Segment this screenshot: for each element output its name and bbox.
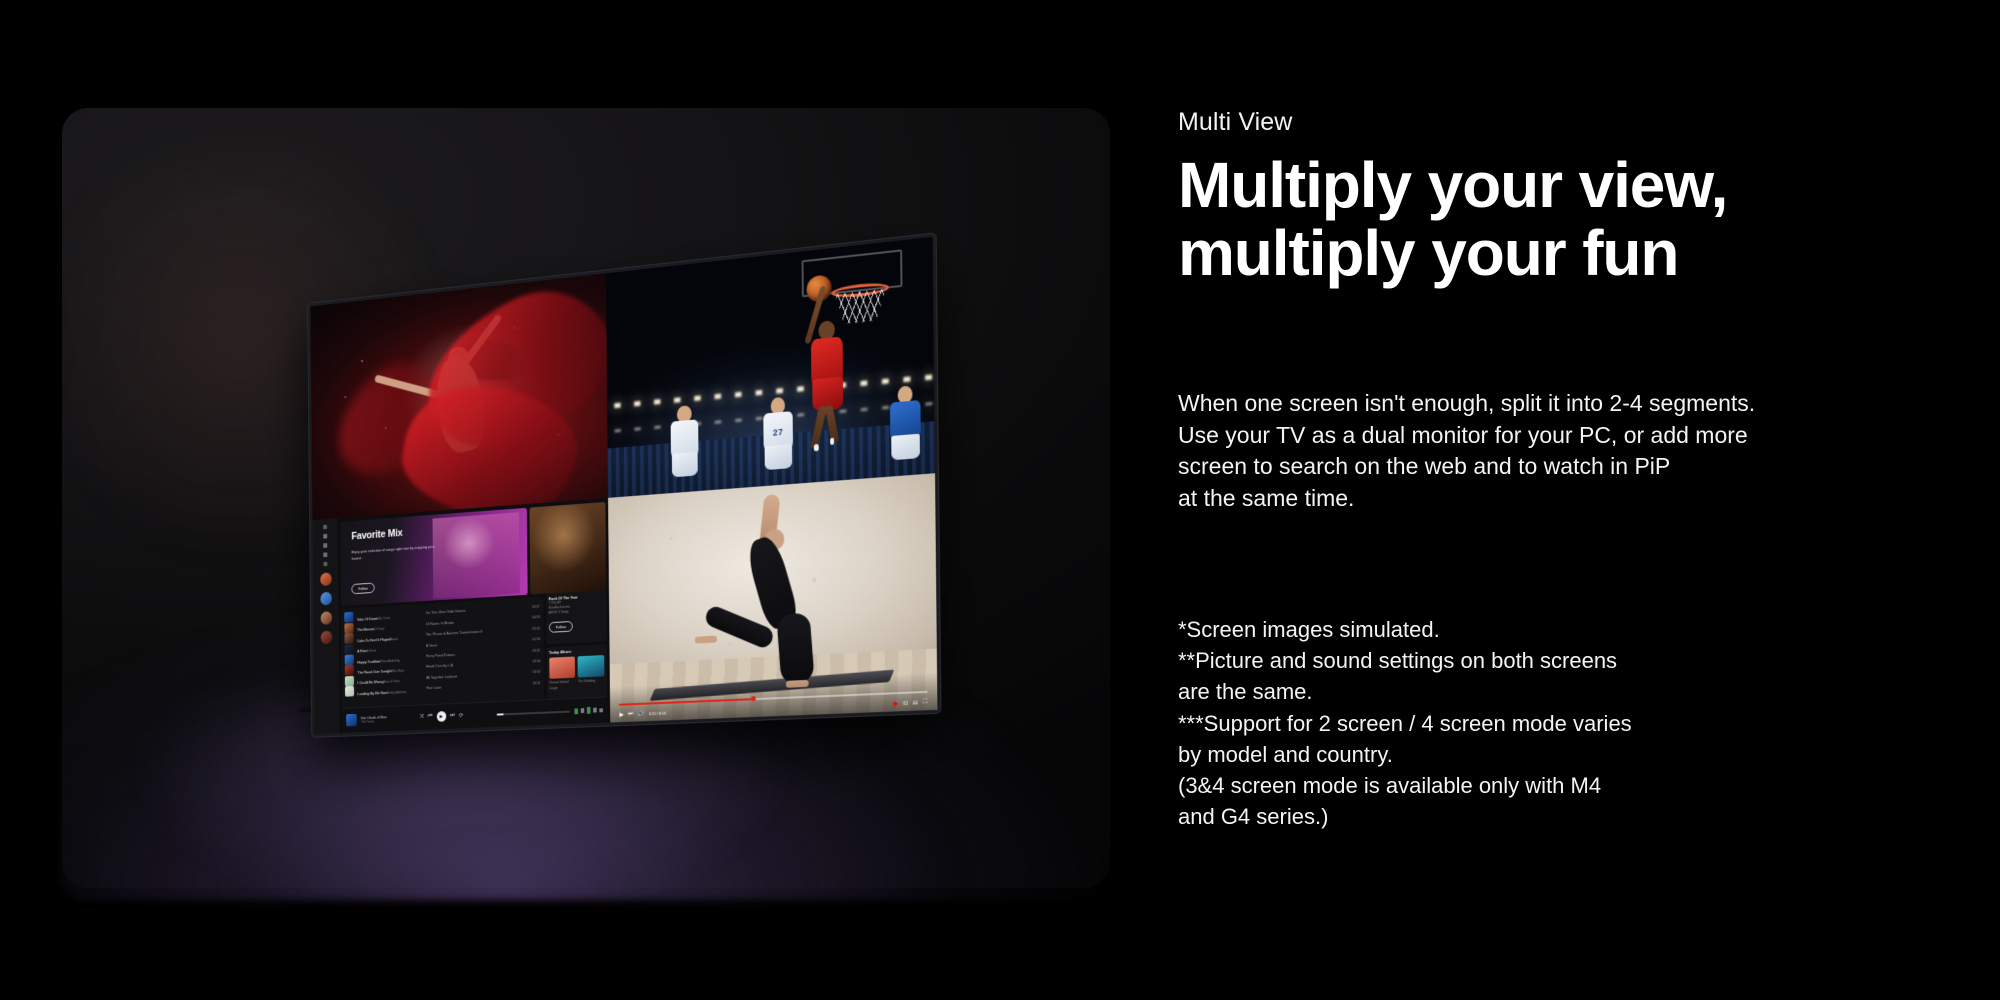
player-red-jersey: [802, 297, 853, 427]
now-playing-art: [346, 714, 357, 727]
today-album-title: Today Album: [549, 648, 604, 656]
page-title: Multiply your view, multiply your fun: [1178, 152, 1727, 288]
follow-button[interactable]: Follow: [352, 583, 375, 595]
hero-subtitle: Enjoy your selection of songs right now …: [351, 543, 443, 562]
footnote-line: **Picture and sound settings on both scr…: [1178, 645, 1632, 676]
quadrant-music-app[interactable]: Favorite Mix Enjoy your selection of son…: [312, 498, 610, 734]
track-album: First Lane: [426, 681, 529, 690]
track-duration: 03:31: [532, 648, 540, 652]
video-progress-handle[interactable]: [751, 696, 756, 701]
queue-icon[interactable]: [587, 707, 591, 714]
music-main: Favorite Mix Enjoy your selection of son…: [338, 498, 610, 733]
now-playing-artist: The Preset: [361, 719, 387, 724]
quadrant-basketball-game[interactable]: 27: [606, 237, 935, 498]
track-list[interactable]: Take Of DawnElla Crest On The Other Side…: [341, 597, 544, 708]
volume-icon[interactable]: [599, 708, 603, 712]
body-line-3: screen to search on the web and to watch…: [1178, 453, 1670, 479]
music-right-column: Rock Of The Year 7,754,089 Reid Backstor…: [546, 590, 607, 699]
avatar-2[interactable]: [320, 592, 332, 606]
album-art-guitarist[interactable]: [530, 502, 607, 595]
shuffle-icon[interactable]: ⤨: [420, 714, 424, 721]
footnote-line: are the same.: [1178, 676, 1632, 707]
fullscreen-icon[interactable]: ⛶: [923, 699, 927, 706]
track-thumb: [345, 686, 354, 697]
today-album-label-1: Festival Gold of Jungle: [549, 680, 575, 691]
track-duration: 03:07: [532, 604, 540, 608]
tv-device: 27: [308, 233, 940, 737]
avatar-1[interactable]: [320, 572, 332, 586]
device-icon[interactable]: [593, 708, 597, 713]
headline-line-2: multiply your fun: [1178, 217, 1678, 289]
volume-icon[interactable]: 🔊: [637, 710, 644, 717]
track-duration: 04:18: [532, 615, 540, 619]
today-album-label-2: The Unfading: [578, 679, 604, 690]
captions-icon[interactable]: ⊡: [903, 699, 908, 706]
today-album-art-2[interactable]: [578, 655, 605, 678]
avatar-3[interactable]: [320, 611, 332, 625]
music-progress-bar[interactable]: [497, 710, 570, 715]
track-title: Landing By Me Now: [358, 690, 388, 696]
feature-eyebrow: Multi View: [1178, 108, 1292, 137]
video-right-controls[interactable]: ▶ ⊡ ⊟ ⛶: [894, 699, 927, 707]
mic-icon[interactable]: [581, 708, 585, 713]
track-duration: 03:11: [533, 681, 541, 685]
home-icon[interactable]: [323, 525, 327, 530]
headline-line-1: Multiply your view,: [1178, 149, 1727, 221]
music-nav-rail[interactable]: [312, 518, 339, 734]
next-icon[interactable]: ⏭: [628, 711, 633, 718]
footnote-line: and G4 series.): [1178, 801, 1632, 832]
video-progress-fill: [619, 698, 751, 705]
avatar-4[interactable]: [320, 631, 332, 645]
yogi-leg-front: [776, 612, 814, 685]
product-visual: 27: [0, 0, 1150, 1000]
footnote-line: by model and country.: [1178, 739, 1632, 770]
music-equalizer-icons[interactable]: [574, 707, 603, 715]
jersey-number: 27: [764, 426, 793, 438]
marketing-copy: Multi View Multiply your view, multiply …: [1178, 0, 2000, 1000]
feature-description: When one screen isn't enough, split it i…: [1178, 388, 1755, 514]
music-progress-fill: [497, 713, 504, 715]
today-album-card[interactable]: Today Album Festival Gold of Jungle The …: [546, 645, 607, 699]
repeat-icon[interactable]: ⟳: [459, 712, 463, 719]
track-thumb: [345, 644, 354, 655]
track-thumb: [344, 612, 353, 623]
yt-logo-icon[interactable]: ▶: [894, 700, 899, 707]
player-blue-right: [883, 375, 928, 473]
next-icon[interactable]: ⏭: [450, 713, 455, 720]
footnote-line: ***Support for 2 screen / 4 screen mode …: [1178, 708, 1632, 739]
player-white-left-shorts: [671, 452, 698, 478]
player-blue-right-shorts: [891, 434, 920, 461]
track-thumb: [345, 633, 354, 644]
playlist-icon[interactable]: [323, 552, 327, 557]
track-thumb: [345, 623, 354, 634]
track-thumb: [345, 665, 354, 676]
player-white-center: 27: [757, 386, 801, 482]
player-white-center-shorts: [765, 444, 793, 470]
track-duration: 03:42: [532, 626, 540, 630]
player-white-left: [664, 395, 706, 489]
singer-photo: [432, 512, 520, 599]
quadrant-dance-performance[interactable]: [310, 273, 608, 520]
today-album-art-1[interactable]: [549, 657, 575, 679]
music-top-area: Favorite Mix Enjoy your selection of son…: [340, 502, 606, 606]
play-icon[interactable]: ▶: [437, 711, 446, 722]
now-playing-title: Into Clouds of MarsThe Preset: [361, 715, 387, 724]
equalizer-icon[interactable]: [574, 708, 578, 714]
footnotes: *Screen images simulated. **Picture and …: [1178, 614, 1632, 833]
card-follow-button[interactable]: Follow: [549, 621, 573, 633]
footnote-line: (3&4 screen mode is available only with …: [1178, 770, 1632, 801]
body-line-1: When one screen isn't enough, split it i…: [1178, 390, 1755, 416]
miniplayer-icon[interactable]: ⊟: [913, 699, 918, 706]
track-duration: 02:56: [532, 637, 540, 641]
play-icon[interactable]: ▶: [619, 711, 623, 718]
music-transport-controls[interactable]: ⤨ ⏮ ▶ ⏭ ⟳: [419, 711, 463, 723]
more-icon[interactable]: [323, 562, 327, 567]
body-line-4: at the same time.: [1178, 485, 1354, 511]
footnote-line: *Screen images simulated.: [1178, 614, 1632, 645]
library-icon[interactable]: [323, 543, 327, 548]
quadrant-yoga-video[interactable]: ▶ ⏭ 🔊 3:20 / 8:04 ▶ ⊡ ⊟ ⛶: [608, 473, 937, 722]
track-thumb: [345, 676, 354, 687]
video-timestamp: 3:20 / 8:04: [649, 710, 666, 716]
music-side-art: [530, 502, 607, 595]
previous-icon[interactable]: ⏮: [428, 714, 433, 721]
track-thumb: [345, 655, 354, 666]
video-progress-bar[interactable]: [619, 691, 927, 706]
track-duration: 03:04: [533, 659, 541, 663]
hero-title: Favorite Mix: [351, 527, 402, 542]
track-artist: Bridey Anthony: [387, 690, 406, 695]
video-left-controls[interactable]: ▶ ⏭ 🔊 3:20 / 8:04: [619, 709, 666, 718]
tv-screen-multiview: 27: [310, 237, 937, 734]
promo-page: 27: [0, 0, 2000, 1000]
tv-bezel: 27: [308, 233, 940, 737]
body-line-2: Use your TV as a dual monitor for your P…: [1178, 422, 1748, 448]
favorite-mix-hero[interactable]: Favorite Mix Enjoy your selection of son…: [340, 508, 527, 606]
track-duration: 04:02: [533, 670, 541, 674]
rock-of-the-year-card[interactable]: Rock Of The Year 7,754,089 Reid Backstor…: [546, 590, 607, 645]
today-album-thumbs: [549, 655, 604, 679]
search-icon[interactable]: [323, 534, 327, 539]
